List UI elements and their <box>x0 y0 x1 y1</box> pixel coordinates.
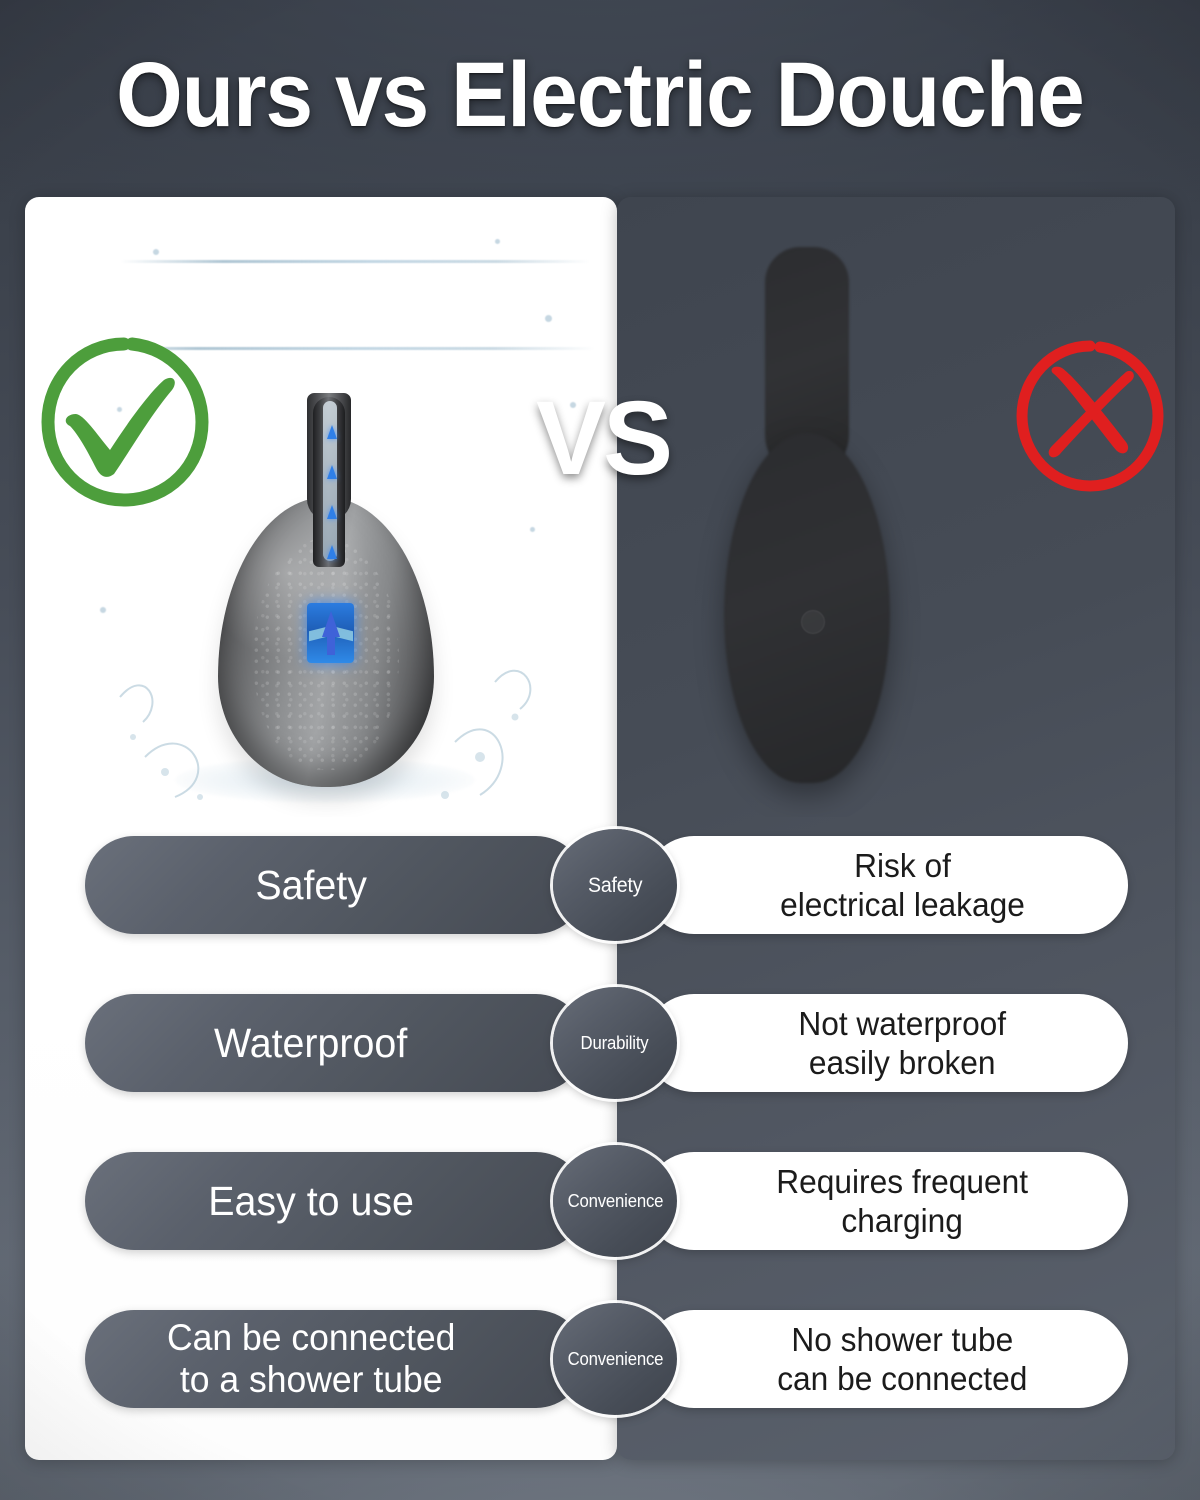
category-badge[interactable]: Convenience <box>553 1303 677 1415</box>
category-badge-label: Convenience <box>567 1190 663 1213</box>
ours-feature-label: Can be connectedto a shower tube <box>167 1317 455 1401</box>
competitor-feature-label: No shower tubecan be connected <box>777 1320 1027 1398</box>
category-badge[interactable]: Convenience <box>553 1145 677 1257</box>
comparison-row: Can be connectedto a shower tube No show… <box>0 1310 1200 1408</box>
competitor-feature-label: Not waterproofeasily broken <box>799 1004 1007 1082</box>
category-badge-label: Convenience <box>567 1348 663 1371</box>
category-badge-label: Durability <box>581 1032 649 1055</box>
ours-feature-pill[interactable]: Can be connectedto a shower tube <box>85 1310 585 1408</box>
category-badge[interactable]: Safety <box>553 829 677 941</box>
competitor-feature-pill[interactable]: Not waterproofeasily broken <box>645 994 1128 1092</box>
competitor-feature-pill[interactable]: Requires frequentcharging <box>645 1152 1128 1250</box>
comparison-table: Safety Risk ofelectrical leakage Safety … <box>0 0 1200 1500</box>
competitor-feature-label: Risk ofelectrical leakage <box>780 846 1025 924</box>
ours-feature-label: Safety <box>255 863 367 908</box>
ours-feature-pill[interactable]: Easy to use <box>85 1152 585 1250</box>
ours-feature-label: Easy to use <box>208 1179 414 1224</box>
ours-feature-pill[interactable]: Waterproof <box>85 994 585 1092</box>
competitor-feature-pill[interactable]: Risk ofelectrical leakage <box>645 836 1128 934</box>
category-badge[interactable]: Durability <box>553 987 677 1099</box>
competitor-feature-pill[interactable]: No shower tubecan be connected <box>645 1310 1128 1408</box>
ours-feature-label: Waterproof <box>214 1021 407 1066</box>
comparison-row: Safety Risk ofelectrical leakage Safety <box>0 836 1200 934</box>
category-badge-label: Safety <box>588 874 642 897</box>
comparison-row: Waterproof Not waterproofeasily broken D… <box>0 994 1200 1092</box>
infographic-canvas: Ours vs Electric Douche <box>0 0 1200 1500</box>
competitor-feature-label: Requires frequentcharging <box>777 1162 1029 1240</box>
ours-feature-pill[interactable]: Safety <box>85 836 585 934</box>
comparison-row: Easy to use Requires frequentcharging Co… <box>0 1152 1200 1250</box>
